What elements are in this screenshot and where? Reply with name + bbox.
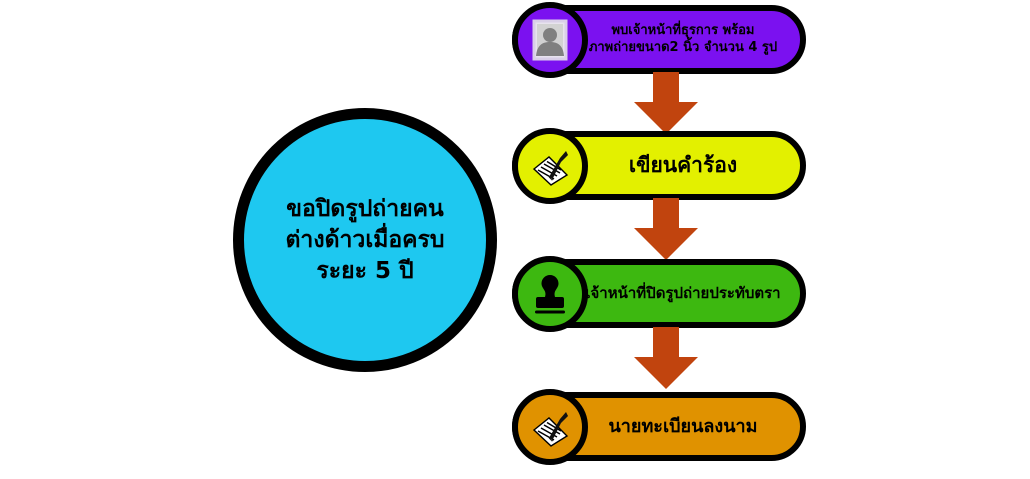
process-step-3[interactable]: เจ้าหน้าที่ปิดรูปถ่ายประทับตรา — [512, 259, 806, 328]
process-step-1[interactable]: พบเจ้าหน้าที่ธุรการ พร้อม ภาพถ่ายขนาด2 น… — [512, 5, 806, 74]
process-title-line-1: ขอปิดรูปถ่ายคน — [286, 194, 443, 225]
process-step-2[interactable]: เขียนคำร้อง — [512, 131, 806, 200]
process-step-1-line-2: ภาพถ่ายขนาด2 นิ้ว จำนวน 4 รูป — [576, 40, 790, 57]
flow-arrow-1 — [628, 72, 704, 134]
process-step-4-line-1: นายทะเบียนลงนาม — [576, 415, 790, 438]
process-title-line-3: ระยะ 5 ปี — [316, 256, 413, 287]
diagram-canvas: ขอปิดรูปถ่ายคน ต่างด้าวเมื่อครบ ระยะ 5 ป… — [0, 0, 1030, 479]
process-title-line-2: ต่างด้าวเมื่อครบ — [285, 225, 444, 256]
process-step-4[interactable]: นายทะเบียนลงนาม — [512, 392, 806, 461]
flow-arrow-3 — [628, 327, 704, 389]
process-step-3-line-1: เจ้าหน้าที่ปิดรูปถ่ายประทับตรา — [576, 284, 790, 303]
rubber-stamp-icon — [512, 256, 588, 332]
write-document-icon — [512, 389, 588, 465]
process-step-2-line-1: เขียนคำร้อง — [576, 152, 790, 179]
id-photo-icon — [512, 2, 588, 78]
process-step-1-line-1: พบเจ้าหน้าที่ธุรการ พร้อม — [576, 23, 790, 40]
process-title-circle: ขอปิดรูปถ่ายคน ต่างด้าวเมื่อครบ ระยะ 5 ป… — [233, 108, 497, 372]
flow-arrow-2 — [628, 198, 704, 260]
write-document-icon — [512, 128, 588, 204]
